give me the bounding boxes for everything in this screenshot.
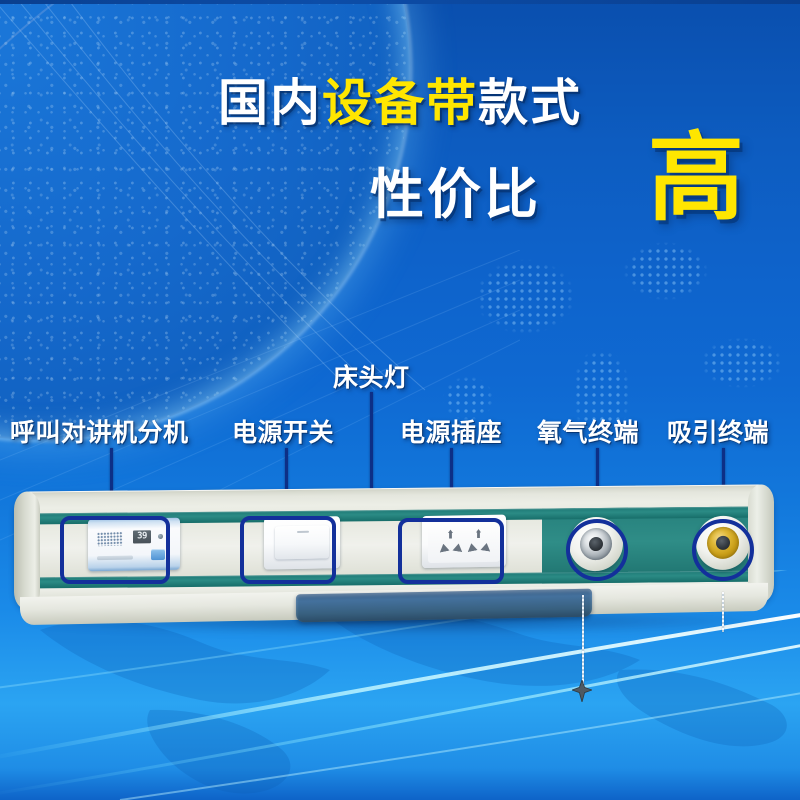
socket-outlet-left[interactable] — [438, 529, 464, 555]
suction-terminal-outlet[interactable] — [696, 515, 750, 570]
callout-label-suction: 吸引终端 — [667, 413, 769, 449]
indicator-led-icon — [158, 534, 163, 539]
callout-label-bed-lamp: 床头灯 — [333, 358, 410, 394]
oxygen-terminal-outlet[interactable] — [569, 517, 623, 572]
panel-body: 39 — [14, 484, 774, 609]
socket-ground-pin-icon — [448, 530, 453, 539]
socket-outlet-right[interactable] — [466, 529, 492, 555]
panel-end-cap-left — [14, 491, 40, 609]
speaker-grille-icon — [97, 531, 123, 546]
pull-cord-hook-icon[interactable] — [572, 680, 592, 702]
switch-rocker[interactable] — [275, 525, 329, 559]
nurse-call-intercom-unit[interactable]: 39 — [88, 518, 180, 572]
oxygen-terminal-port-icon — [589, 537, 603, 551]
bed-head-unit-panel: 39 — [14, 488, 786, 638]
socket-neutral-pin-icon — [480, 542, 491, 551]
suction-terminal-port-icon — [716, 536, 730, 550]
bed-lamp-diffuser — [296, 589, 592, 623]
socket-live-pin-icon — [466, 542, 477, 552]
oxygen-pull-cord[interactable] — [582, 595, 584, 687]
power-switch-plate[interactable] — [264, 516, 340, 569]
suction-pull-cord[interactable] — [722, 592, 724, 632]
callout-label-power-socket: 电源插座 — [400, 413, 502, 449]
callout-layer: 呼叫对讲机分机 电源开关 床头灯 电源插座 氧气终端 吸引终端 — [0, 0, 800, 800]
intercom-call-button[interactable] — [151, 549, 165, 560]
power-socket-plate[interactable] — [422, 515, 506, 569]
callout-label-power-switch: 电源开关 — [232, 413, 334, 449]
intercom-display: 39 — [133, 530, 151, 543]
switch-mark-icon — [297, 531, 309, 533]
intercom-slot — [97, 556, 133, 561]
callout-label-oxygen: 氧气终端 — [537, 413, 639, 449]
socket-neutral-pin-icon — [452, 543, 463, 552]
socket-face — [428, 520, 500, 563]
socket-live-pin-icon — [438, 543, 449, 553]
callout-label-intercom: 呼叫对讲机分机 — [10, 413, 189, 449]
socket-ground-pin-icon — [476, 529, 481, 538]
promo-image-root: 国内设备带款式 性价比 高 呼叫对讲机分机 电源开关 床头灯 电源插座 氧气终端… — [0, 0, 800, 800]
